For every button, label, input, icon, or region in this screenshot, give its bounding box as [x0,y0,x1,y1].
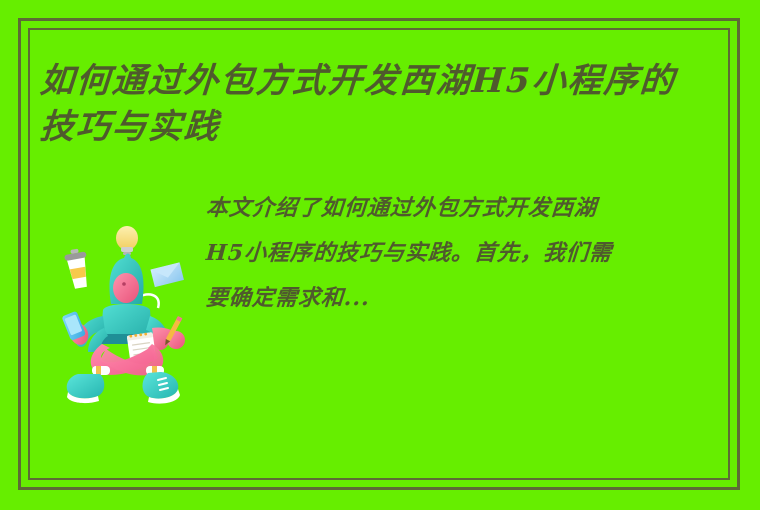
page-title-line-1: 如何通过外包方式开发西湖H5小程序的 [38,58,741,104]
multitasking-person-illustration [48,216,212,406]
article-summary: 本文介绍了如何通过外包方式开发西湖 H5小程序的技巧与实践。首先，我们需 要确定… [206,186,734,321]
smartphone-icon [61,311,86,341]
page-title-line-2: 技巧与实践 [38,104,741,150]
article-summary-line-3: 要确定需求和... [204,276,735,321]
page-title: 如何通过外包方式开发西湖H5小程序的 技巧与实践 [40,58,740,150]
sneaker-icon-left [67,374,105,403]
sneaker-icon-right [143,372,181,404]
lightbulb-icon [116,226,138,255]
person-legs [91,344,164,375]
person-head [109,254,143,305]
envelope-icon [150,262,183,287]
article-summary-line-2: H5小程序的技巧与实践。首先，我们需 [204,231,735,276]
article-summary-line-1: 本文介绍了如何通过外包方式开发西湖 [204,186,735,231]
coffee-cup-icon [63,247,91,289]
article-cover-canvas: 如何通过外包方式开发西湖H5小程序的 技巧与实践 本文介绍了如何通过外包方式开发… [0,0,760,510]
